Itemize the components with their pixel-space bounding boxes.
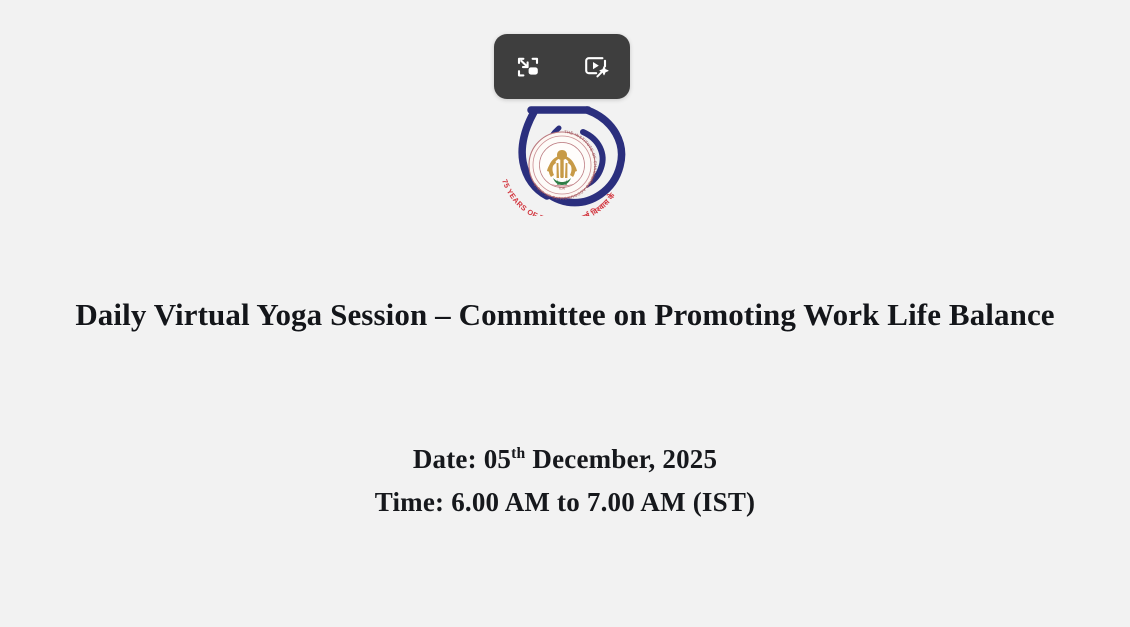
session-date-line: Date: 05th December, 2025 bbox=[0, 438, 1130, 481]
icai-75-years-logo: THE INSTITUTE OF CHARTERED ACCOUNTANTS O… bbox=[487, 98, 637, 216]
enhance-video-button[interactable] bbox=[573, 44, 619, 90]
date-rest: December, 2025 bbox=[532, 444, 717, 474]
date-day: 05 bbox=[484, 444, 511, 474]
video-magic-wand-icon bbox=[581, 52, 611, 82]
picture-in-picture-button[interactable] bbox=[505, 44, 551, 90]
date-label: Date: bbox=[413, 444, 477, 474]
picture-in-picture-icon bbox=[513, 52, 543, 82]
session-time-line: Time: 6.00 AM to 7.00 AM (IST) bbox=[0, 481, 1130, 524]
session-details: Date: 05th December, 2025 Time: 6.00 AM … bbox=[0, 438, 1130, 524]
video-controls-toolbar bbox=[494, 34, 630, 99]
video-slide-frame: THE INSTITUTE OF CHARTERED ACCOUNTANTS O… bbox=[0, 0, 1130, 627]
svg-text:ICAI: ICAI bbox=[559, 187, 565, 191]
date-ordinal: th bbox=[511, 445, 525, 462]
slide-headline: Daily Virtual Yoga Session – Committee o… bbox=[0, 296, 1130, 333]
